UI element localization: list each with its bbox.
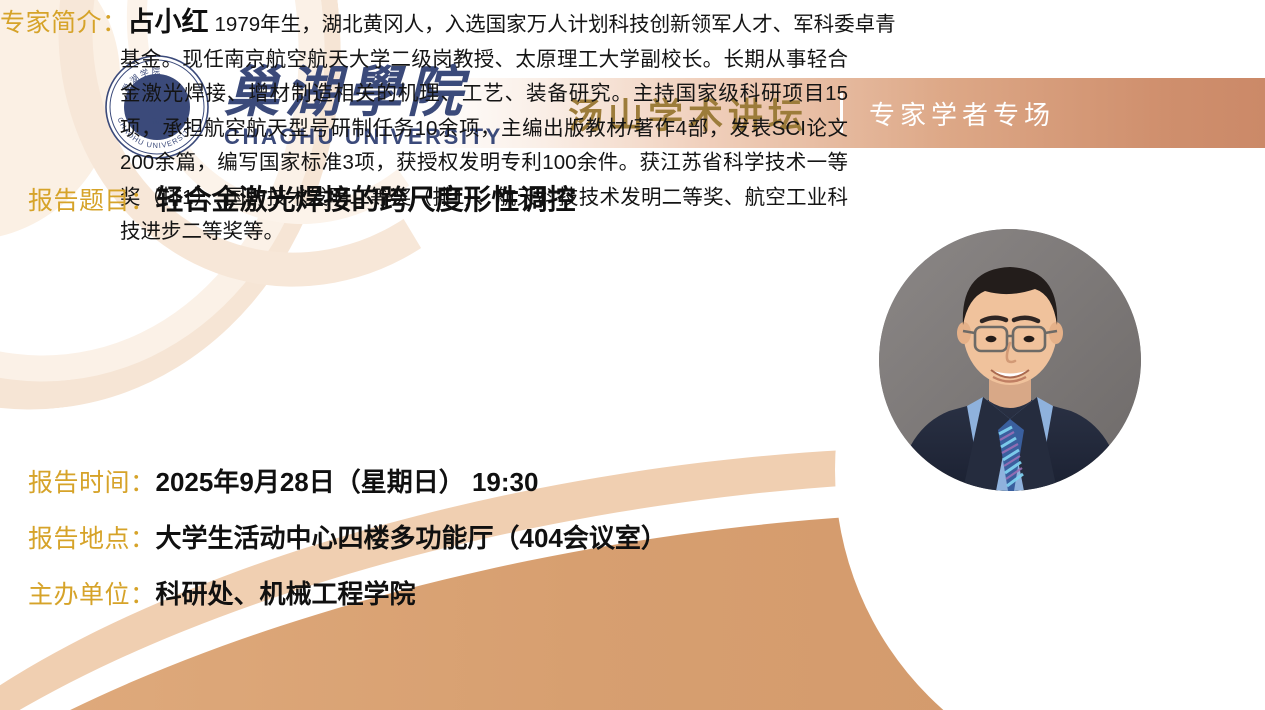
speaker-portrait <box>879 229 1141 491</box>
topic-value: 轻合金激光焊接的跨尺度形性调控 <box>156 178 576 218</box>
host-value: 科研处、机械工程学院 <box>156 574 416 611</box>
topic-label: 报告题目： <box>28 181 156 217</box>
place-label: 报告地点： <box>28 519 156 555</box>
speaker-name: 占小红 <box>128 0 209 39</box>
time-value: 2025年9月28日（星期日） 19:30 <box>156 462 539 499</box>
place-row: 报告地点： 大学生活动中心四楼多功能厅（404会议室） <box>28 518 667 555</box>
time-row: 报告时间： 2025年9月28日（星期日） 19:30 <box>28 462 538 499</box>
lecture-poster: 汤山学术讲坛 专家学者专场 1977 巢 湖 学 院 <box>0 0 1265 710</box>
host-row: 主办单位： 科研处、机械工程学院 <box>28 574 416 611</box>
speaker-label: 专家简介： <box>0 3 128 39</box>
topic-row: 报告题目： 轻合金激光焊接的跨尺度形性调控 <box>28 178 576 218</box>
host-label: 主办单位： <box>28 575 156 611</box>
speaker-bio-head: 专家简介： 占小红 1979年生，湖北黄冈人，入选国家万人计划科技创新领军人才、… <box>0 0 860 43</box>
speaker-bio-line-first: 1979年生，湖北黄冈人，入选国家万人计划科技创新领军人才、军科委卓青 <box>215 8 896 43</box>
time-label: 报告时间： <box>28 463 156 499</box>
speaker-bio-text: 基金。现任南京航空航天大学二级岗教授、太原理工大学副校长。长期从事轻合金激光焊接… <box>120 43 848 250</box>
place-value: 大学生活动中心四楼多功能厅（404会议室） <box>156 518 667 555</box>
